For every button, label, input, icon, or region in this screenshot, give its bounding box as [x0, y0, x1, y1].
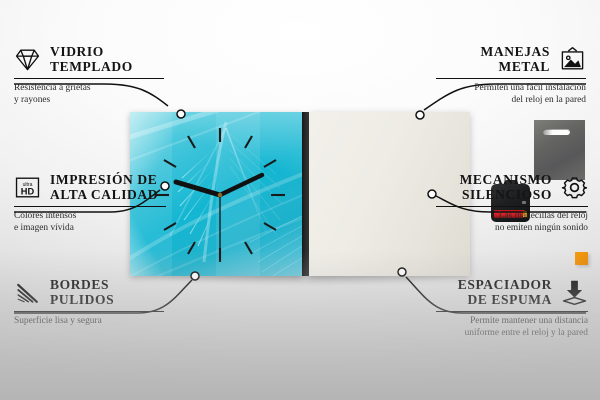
- connector-endpoint-mecanismo: [428, 190, 436, 198]
- callout-title: ESPACIADOR: [458, 277, 552, 292]
- callout-subtitle: Permiten una fácil instalación: [436, 83, 586, 95]
- callout-rule: [14, 78, 164, 79]
- callout-title: MECANISMO: [460, 172, 552, 187]
- callout-subtitle: Las manecillas del reloj: [436, 211, 588, 223]
- connector-endpoint-manejas: [416, 111, 424, 119]
- infographic-canvas: VIDRIO TEMPLADO Resistencia a grietas y …: [0, 0, 600, 400]
- callout-subtitle-2: no emiten ningún sonido: [436, 223, 588, 235]
- foam-spacer-arrow-icon: [561, 279, 588, 306]
- callout-title-2: METAL: [481, 59, 550, 74]
- callout-subtitle: Resistencia a grietas: [14, 83, 164, 95]
- callout-rule: [436, 206, 588, 207]
- callout-title: IMPRESIÓN DE: [50, 172, 158, 187]
- callout-title: BORDES: [50, 277, 114, 292]
- callout-subtitle: Superficie lisa y segura: [14, 316, 164, 328]
- wall-hanger-frame-icon: [559, 46, 586, 73]
- callout-title-2: TEMPLADO: [50, 59, 133, 74]
- callout-rule: [436, 311, 588, 312]
- callout-subtitle: Colores intensos: [14, 211, 166, 223]
- callout-bordes-pulidos: BORDES PULIDOS Superficie lisa y segura: [14, 277, 164, 328]
- callout-rule: [14, 206, 166, 207]
- ultra-hd-icon-bottom-text: HD: [21, 186, 35, 196]
- callout-title-2: DE ESPUMA: [458, 292, 552, 307]
- callout-subtitle-2: del reloj en la pared: [436, 95, 586, 107]
- diamond-icon: [14, 46, 41, 73]
- callout-rule: [14, 311, 164, 312]
- down-arrow-shape: [567, 280, 582, 297]
- callout-mecanismo-silencioso: MECANISMO SILENCIOSO Las manecillas del …: [436, 172, 588, 235]
- connector-endpoint-vidrio: [177, 110, 185, 118]
- callout-subtitle-2: y rayones: [14, 95, 164, 107]
- callout-espaciador-de-espuma: ESPACIADOR DE ESPUMA Permite mantener un…: [436, 277, 588, 340]
- callout-title-2: PULIDOS: [50, 292, 114, 307]
- callout-vidrio-templado: VIDRIO TEMPLADO Resistencia a grietas y …: [14, 44, 164, 107]
- callout-title: VIDRIO: [50, 44, 133, 59]
- callout-subtitle-2: uniforme entre el reloj y la pared: [436, 328, 588, 340]
- callout-impresion-alta-calidad: ultra HD IMPRESIÓN DE ALTA CALIDAD Color…: [14, 172, 166, 235]
- callout-subtitle: Permite mantener una distancia: [436, 316, 588, 328]
- connector-endpoint-bordes: [191, 272, 199, 280]
- polished-edges-icon: [14, 279, 41, 306]
- gear-icon: [561, 174, 588, 201]
- ultra-hd-icon: ultra HD: [14, 174, 41, 201]
- callout-title-2: ALTA CALIDAD: [50, 187, 158, 202]
- callout-subtitle-2: e imagen vívida: [14, 223, 166, 235]
- callout-title-2: SILENCIOSO: [460, 187, 552, 202]
- callout-title: MANEJAS: [481, 44, 550, 59]
- callout-rule: [436, 78, 586, 79]
- spacer-pad-shape: [564, 297, 586, 304]
- connector-endpoint-espaciador: [398, 268, 406, 276]
- callout-manejas-metal: MANEJAS METAL Permiten una fácil instala…: [436, 44, 586, 107]
